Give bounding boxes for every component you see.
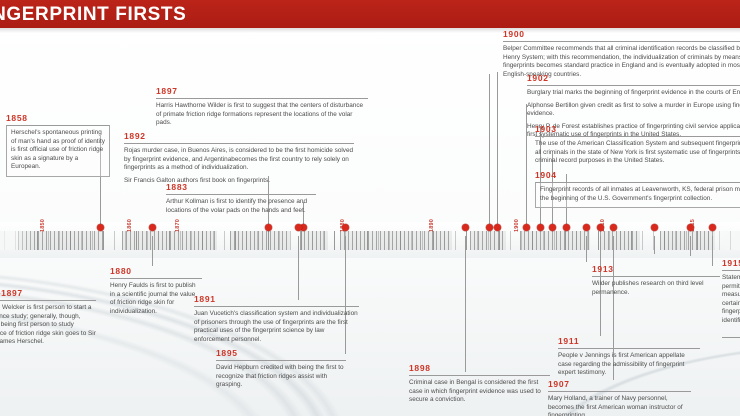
ruler-tick [400,231,401,250]
event-year-1892: 1892 [124,131,354,143]
event-card-1897[interactable]: 1897 Harris Hawthorne Wilder is first to… [156,86,368,128]
ruler-tick [664,231,665,250]
timeline-marker-dot[interactable] [486,224,493,231]
timeline-marker-dot[interactable] [149,224,156,231]
event-card-1903[interactable]: 1903 The use of the American Classificat… [535,124,740,166]
ruler-tick [37,231,38,250]
timeline-band[interactable]: 18501860187018801890190019101915 [0,222,740,258]
timeline-marker-dot[interactable] [265,224,272,231]
ruler-tick [323,231,324,250]
timeline-ridge-track [0,231,740,250]
timeline-year-label: 1860 [127,219,133,232]
infographic-root: FINGERPRINT FIRSTS 185018601870188018901… [0,0,740,416]
event-text: Mary Holland, a trainer of Navy personne… [548,395,691,416]
timeline-year-label: 1900 [514,219,520,232]
event-card-1883[interactable]: 1883 Arthur Kollman is first to identify… [166,182,316,215]
ruler-tick [312,231,313,250]
event-card-1880[interactable]: 1880 Henry Faulds is first to publish in… [110,266,202,316]
ruler-tick [59,231,60,250]
event-card-1911[interactable]: 1913 Wilder publishes research on third … [592,264,720,301]
event-year-1904: 1904 [535,170,740,182]
ruler-tick [411,231,412,250]
timeline-leader-line [298,236,299,300]
event-year-1903: 1903 [535,124,740,136]
ridge-segment [230,231,290,250]
ruler-tick [543,231,544,250]
timeline-marker-dot[interactable] [597,224,604,231]
ruler-tick [202,231,203,250]
event-year-1880: 1880 [110,266,202,278]
event-body-1904: Fingerprint records of all inmates at Le… [535,182,740,208]
ruler-tick [356,231,357,250]
ruler-tick [301,231,302,250]
timeline-marker-dot[interactable] [523,224,530,231]
event-body-1913: Statement that it permits no half measur… [722,270,740,326]
ruler-tick [136,231,137,250]
ruler-tick [290,231,291,250]
ruler-tick [169,231,170,250]
timeline-leader-line [152,236,153,266]
ruler-tick [246,231,247,250]
ruler-tick [70,231,71,250]
ruler-tick [158,231,159,250]
event-text: Hermann Welcker is first person to start… [0,304,96,347]
event-year-1911: 1913 [592,264,720,276]
ruler-tick [81,231,82,250]
event-body-1892: Rojas murder case, in Buenos Aires, is c… [124,143,354,185]
event-year-1897: 1897 [156,86,368,98]
event-card-1913[interactable]: 1915 Statement that it permits no half m… [722,258,740,326]
event-text: Statement that it permits no half measur… [722,274,740,326]
ruler-tick [433,231,434,250]
event-text: Juan Vucetich's classification system an… [194,310,359,344]
ruler-tick [598,231,599,250]
event-card-1895[interactable]: 1895 David Hepburn credited with being t… [216,348,346,390]
event-body-1895: David Hepburn credited with being the fi… [216,360,346,390]
ruler-tick [587,231,588,250]
timeline-marker-dot[interactable] [583,224,590,231]
timeline-year-label: 1890 [429,219,435,232]
timeline-marker-dot[interactable] [563,224,570,231]
event-year-1913: 1915 [722,258,740,270]
event-text: Wilder publishes research on third level… [592,280,720,297]
event-text: Fingerprint records of all inmates at Le… [540,186,740,203]
event-year-1902: 1902 [527,73,740,85]
timeline-marker-dot[interactable] [687,224,694,231]
ruler-tick [642,231,643,250]
ruler-tick [521,231,522,250]
ruler-tick [213,231,214,250]
timeline-year-label: 1850 [40,219,46,232]
ruler-tick [554,231,555,250]
timeline-marker-dot[interactable] [97,224,104,231]
timeline-leader-line [489,74,490,224]
timeline-leader-line [465,236,466,372]
timeline-year-label: 1870 [175,219,181,232]
event-year-1900: 1900 [503,29,740,41]
event-text: Henry Faulds is first to publish in a sc… [110,282,202,316]
event-text: Arthur Kollman is first to identify the … [166,198,316,215]
ruler-tick [422,231,423,250]
event-body-1915 [722,337,740,341]
ruler-tick [367,231,368,250]
ruler-tick [235,231,236,250]
event-text: Rojas murder case, in Buenos Aires, is c… [124,147,354,173]
event-body-1897: Harris Hawthorne Wilder is first to sugg… [156,98,368,128]
ruler-tick [444,231,445,250]
timeline-leader-line [712,236,713,266]
timeline-marker-dot[interactable] [709,224,716,231]
ruler-tick [631,231,632,250]
timeline-marker-dot[interactable] [537,224,544,231]
timeline-leader-line [654,236,655,254]
ruler-tick [378,231,379,250]
event-body-1898: Criminal case in Bengal is considered th… [409,375,550,405]
event-card-1898[interactable]: 1898 Criminal case in Bengal is consider… [409,363,550,405]
timeline-leader-line [497,72,498,224]
event-card-1907[interactable]: 1911 People v Jennings is first American… [558,336,700,378]
event-year-1905: 1907 [548,379,691,391]
timeline-marker-dot[interactable] [549,224,556,231]
ruler-tick [103,231,104,250]
event-body-1883: Arthur Kollman is first to identify the … [166,194,316,215]
ruler-tick [389,231,390,250]
ruler-tick [477,231,478,250]
event-year-1858: 1858 [6,113,110,125]
ruler-tick [268,231,269,250]
event-card-1892[interactable]: 1892 Rojas murder case, in Buenos Aires,… [124,131,354,185]
ruler-tick [675,231,676,250]
ruler-tick [576,231,577,250]
event-card-1905[interactable]: 1907 Mary Holland, a trainer of Navy per… [548,379,691,416]
event-body-1911: Wilder publishes research on third level… [592,276,720,297]
event-body-1907: People v Jennings is first American appe… [558,348,700,378]
event-body-1856: Hermann Welcker is first person to start… [0,300,96,347]
ruler-tick [708,231,709,250]
ruler-tick [191,231,192,250]
ruler-tick [488,231,489,250]
event-year-1907: 1911 [558,336,700,348]
ruler-tick [257,231,258,250]
page-title: FINGERPRINT FIRSTS [0,4,186,26]
ruler-tick [125,231,126,250]
ruler-tick [48,231,49,250]
ruler-tick [455,231,456,250]
timeline-fade-right [710,231,740,250]
event-card-1858[interactable]: 1858 Herschel's spontaneous printing of … [6,113,110,177]
timeline-marker-dot[interactable] [651,224,658,231]
timeline-marker-dot[interactable] [494,224,501,231]
timeline-marker-dot[interactable] [462,224,469,231]
timeline-leader-line [586,236,587,262]
event-body-1891: Juan Vucetich's classification system an… [194,306,359,344]
ruler-tick [565,231,566,250]
event-text: The use of the American Classification S… [535,140,740,166]
ruler-tick [180,231,181,250]
ruler-tick [532,231,533,250]
ridge-segment [660,231,715,250]
timeline-leader-line [690,236,691,256]
timeline-marker-dot[interactable] [610,224,617,231]
timeline-marker-dot[interactable] [342,224,349,231]
event-card-1904[interactable]: 1904 Fingerprint records of all inmates … [535,170,740,208]
event-text: Herschel's spontaneous printing of man's… [11,129,105,172]
ruler-tick [510,231,511,250]
header-bar: FINGERPRINT FIRSTS [0,0,740,28]
timeline-fade-left [0,231,34,250]
event-year-1883: 1883 [166,182,316,194]
ruler-tick [466,231,467,250]
ruler-tick [499,231,500,250]
event-body-1905: Mary Holland, a trainer of Navy personne… [548,391,691,416]
event-year-1895: 1895 [216,348,346,360]
event-card-1856[interactable]: 1856–1897 Hermann Welcker is first perso… [0,288,96,347]
ruler-tick [334,231,335,250]
ruler-tick [686,231,687,250]
ruler-tick [609,231,610,250]
event-card-1900[interactable]: 1900 Belper Committee recommends that al… [503,29,740,79]
ruler-tick [224,231,225,250]
event-body-1903: The use of the American Classification S… [535,136,740,166]
ridge-segment [520,231,590,250]
event-body-1880: Henry Faulds is first to publish in a sc… [110,278,202,316]
event-text: Harris Hawthorne Wilder is first to sugg… [156,102,368,128]
event-body-1858: Herschel's spontaneous printing of man's… [6,125,110,177]
ruler-tick [697,231,698,250]
event-year-1856: 1856–1897 [0,288,96,300]
event-year-1898: 1898 [409,363,550,375]
ruler-tick [279,231,280,250]
ruler-tick [620,231,621,250]
ruler-tick [147,231,148,250]
event-text: David Hepburn credited with being the fi… [216,364,346,390]
timeline-marker-dot[interactable] [295,224,302,231]
event-text: Criminal case in Bengal is considered th… [409,379,550,405]
event-card-1915[interactable] [722,336,740,341]
event-year-1891: 1891 [194,294,359,306]
ruler-tick [114,231,115,250]
event-text: People v Jennings is first American appe… [558,352,700,378]
ruler-tick [92,231,93,250]
event-text: Burglary trial marks the beginning of fi… [527,89,740,98]
event-card-1891[interactable]: 1891 Juan Vucetich's classification syst… [194,294,359,344]
event-text: Alphonse Bertillon given credit as first… [527,102,740,119]
